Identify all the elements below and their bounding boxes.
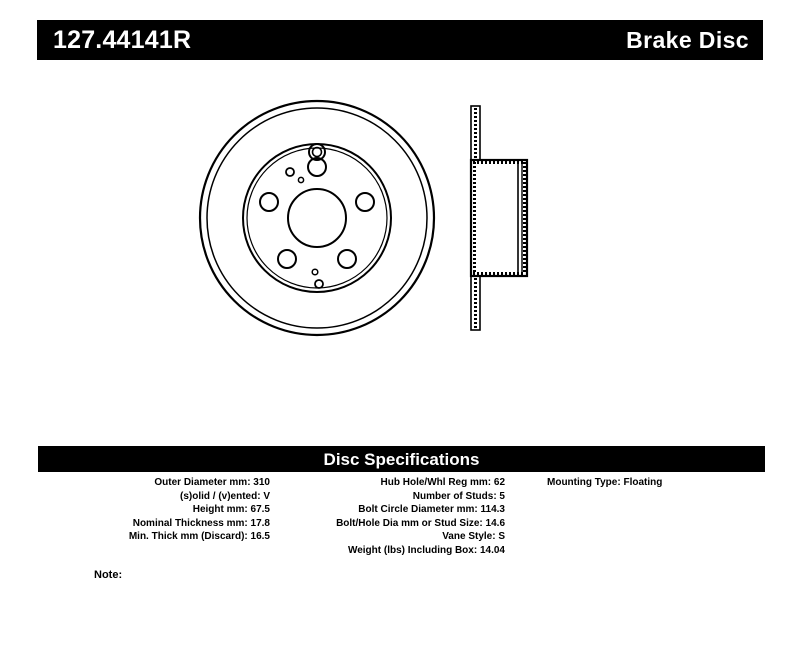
spec-item: (s)olid / (v)ented: V: [38, 490, 270, 504]
lug-hole: [260, 193, 278, 211]
brake-rotor-technical-drawing: [197, 98, 567, 338]
spec-item: Mounting Type: Floating: [547, 476, 765, 490]
lug-hole: [356, 193, 374, 211]
product-drawing-area: [37, 80, 763, 430]
spec-section-header: Disc Specifications: [38, 446, 765, 472]
spec-item: Outer Diameter mm: 310: [38, 476, 270, 490]
hub-bore-circle: [288, 189, 346, 247]
lug-hole: [278, 250, 296, 268]
spec-item: Height mm: 67.5: [38, 503, 270, 517]
brake-rotor-face-view: [200, 101, 434, 335]
rotor-outer-chamfer-circle: [207, 108, 427, 328]
spec-item: Vane Style: S: [288, 530, 505, 544]
spec-column-right: Mounting Type: Floating: [505, 476, 765, 558]
spec-column-left: Outer Diameter mm: 310 (s)olid / (v)ente…: [38, 476, 270, 558]
spec-item: Bolt Circle Diameter mm: 114.3: [288, 503, 505, 517]
rotor-outer-edge-circle: [200, 101, 434, 335]
locating-pin-hole-inner: [313, 148, 322, 157]
product-title: Brake Disc: [626, 29, 749, 52]
spec-item: Hub Hole/Whl Reg mm: 62: [288, 476, 505, 490]
spec-column-middle: Hub Hole/Whl Reg mm: 62 Number of Studs:…: [270, 476, 505, 558]
header-bar: 127.44141R Brake Disc: [37, 20, 763, 60]
spec-item: Bolt/Hole Dia mm or Stud Size: 14.6: [288, 517, 505, 531]
spec-item: Weight (lbs) Including Box: 14.04: [288, 544, 505, 558]
spec-item: Number of Studs: 5: [288, 490, 505, 504]
tapped-hole-small: [312, 269, 318, 275]
tapped-hole: [315, 280, 323, 288]
tapped-hole: [286, 168, 294, 176]
spec-item: Min. Thick mm (Discard): 16.5: [38, 530, 270, 544]
spec-item: Nominal Thickness mm: 17.8: [38, 517, 270, 531]
spec-columns: Outer Diameter mm: 310 (s)olid / (v)ente…: [38, 476, 765, 558]
lug-hole: [338, 250, 356, 268]
part-number: 127.44141R: [53, 28, 191, 53]
note-label: Note:: [94, 570, 122, 581]
spec-section-title: Disc Specifications: [324, 451, 480, 468]
tapped-hole-small: [298, 177, 303, 182]
rotor-hat-transition-circle: [247, 148, 387, 288]
brake-rotor-edge-section-view: [471, 106, 527, 330]
